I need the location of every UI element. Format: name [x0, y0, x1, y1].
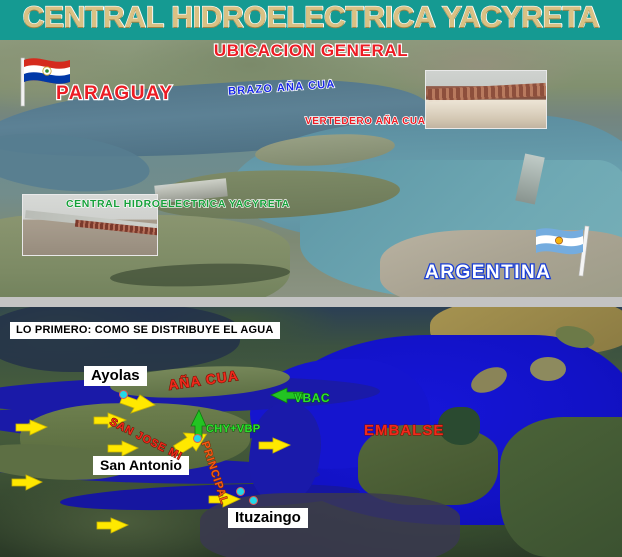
label-vbac: VBAC: [294, 391, 330, 405]
title-bar: CENTRAL HIDROELECTRICA YACYRETA: [0, 0, 622, 40]
inset-photo-vertedero: [425, 70, 547, 129]
label-central-hidroelectrica-yacyreta: CENTRAL HIDROELECTRICA YACYRETA: [66, 198, 290, 210]
station-marker-ayolas: [119, 390, 128, 399]
city-label-ayolas: Ayolas: [84, 366, 147, 386]
label-embalse: EMBALSE: [364, 422, 444, 439]
panel-separator: [0, 297, 622, 307]
page-title: CENTRAL HIDROELECTRICA YACYRETA: [0, 1, 622, 35]
label-chy-vbp: CHY+VBP: [206, 423, 260, 435]
argentina-flag-icon: [530, 222, 602, 280]
paraguay-flag-icon: [14, 52, 86, 110]
subtitle: UBICACION GENERAL: [0, 41, 622, 61]
station-marker-ituzaingo: [236, 487, 245, 496]
city-label-ituzaingo: Ituzaingo: [228, 508, 308, 528]
station-marker-principal: [249, 496, 258, 505]
slide-root: CENTRAL HIDROELECTRICA YACYRETA UBICACIO…: [0, 0, 622, 557]
station-marker-san-antonio: [193, 434, 202, 443]
intake-arrows-layer: [0, 307, 622, 557]
label-vertedero-ana-cua: VERTEDERO AÑA CUA: [305, 116, 426, 127]
lower-map-caption: LO PRIMERO: COMO SE DISTRIBUYE EL AGUA: [10, 322, 280, 339]
